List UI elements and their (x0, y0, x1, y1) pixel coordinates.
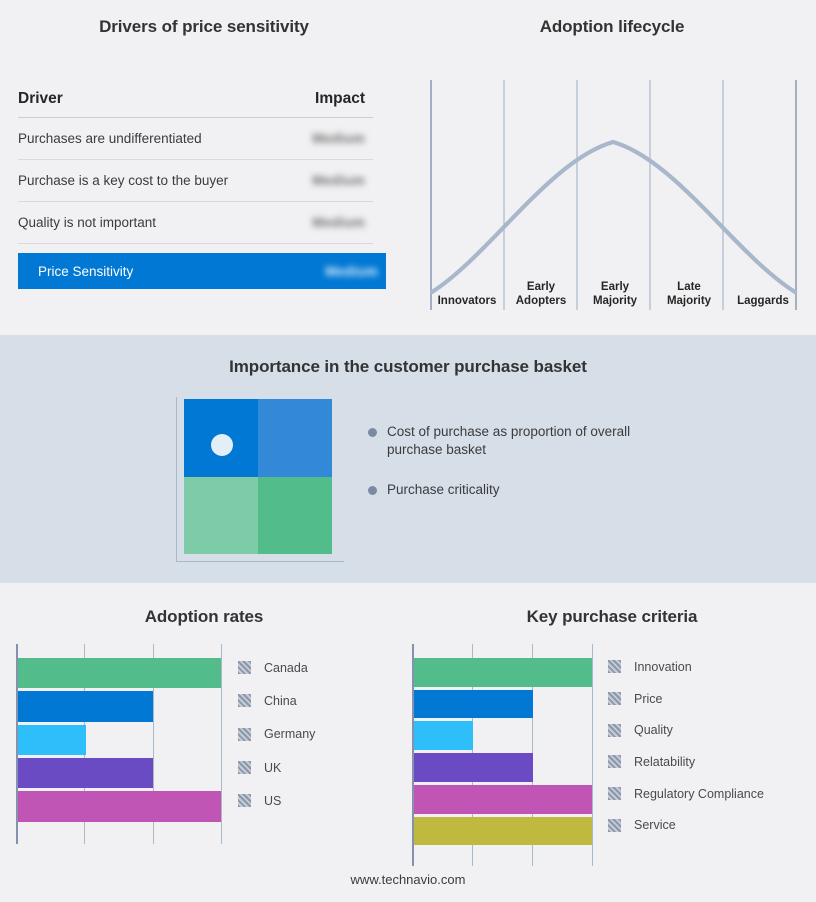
legend-item: China (238, 684, 315, 717)
summary-impact-redacted: Medium (325, 264, 378, 279)
legend-label: US (264, 794, 281, 808)
bar (414, 690, 533, 719)
legend-item: Quality (608, 714, 764, 746)
legend-item: Service (608, 810, 764, 842)
drivers-panel: Drivers of price sensitivity Driver Impa… (0, 0, 408, 335)
hatched-swatch-icon (608, 819, 621, 832)
impact-value-redacted: Medium (312, 173, 365, 188)
legend-item: US (238, 784, 315, 817)
driver-label: Quality is not important (18, 215, 156, 230)
gridline (592, 644, 593, 866)
adoption-rates-panel: Adoption rates CanadaChinaGermanyUKUS (0, 583, 408, 902)
impact-value-redacted: Medium (312, 131, 365, 146)
legend-label: Innovation (634, 660, 692, 674)
price-sensitivity-summary-row: Price Sensitivity Medium (18, 253, 386, 289)
table-row: Quality is not important Medium (18, 202, 373, 244)
legend-item: Innovation (608, 651, 764, 683)
bar-series (18, 658, 221, 825)
bar-row (18, 658, 221, 688)
matrix-y-axis (176, 397, 177, 562)
adoption-rates-chart (16, 644, 221, 844)
legend-label: Relatability (634, 755, 695, 769)
quadrant-bottom-left (184, 477, 258, 555)
hatched-swatch-icon (238, 694, 251, 707)
stage-label-innovators: Innovators (430, 294, 504, 310)
bullet-dot-icon (368, 428, 377, 437)
hatched-swatch-icon (608, 660, 621, 673)
hatched-swatch-icon (608, 724, 621, 737)
bullet-dot-icon (368, 486, 377, 495)
bar-row (18, 725, 221, 755)
bar (414, 817, 592, 846)
key-purchase-criteria-chart (412, 644, 592, 866)
column-header-driver: Driver (18, 90, 63, 108)
bar (18, 658, 221, 688)
bar (18, 758, 153, 788)
matrix-x-axis (176, 561, 344, 562)
criteria-title: Key purchase criteria (408, 607, 816, 627)
hatched-swatch-icon (238, 794, 251, 807)
bar (414, 721, 473, 750)
position-marker-dot (211, 434, 233, 456)
table-row: Purchase is a key cost to the buyer Medi… (18, 160, 373, 202)
legend-item: Canada (238, 651, 315, 684)
bar (18, 691, 153, 721)
footer-url: www.technavio.com (0, 872, 816, 887)
key-purchase-criteria-legend: InnovationPriceQualityRelatabilityRegula… (608, 651, 764, 841)
legend-item: UK (238, 751, 315, 784)
bar-row (414, 785, 592, 814)
lifecycle-title: Adoption lifecycle (408, 17, 816, 37)
legend-label: Price (634, 692, 662, 706)
hatched-swatch-icon (608, 755, 621, 768)
quadrant-matrix (176, 397, 344, 565)
table-header: Driver Impact (18, 90, 373, 118)
bar-series (414, 658, 592, 848)
driver-label: Purchase is a key cost to the buyer (18, 173, 228, 188)
driver-label: Purchases are undifferentiated (18, 131, 202, 146)
legend-item: Price (608, 683, 764, 715)
legend-label: Quality (634, 723, 673, 737)
lifecycle-stage-labels: Innovators EarlyAdopters EarlyMajority L… (430, 255, 800, 310)
legend-label: China (264, 694, 297, 708)
legend-label: Purchase criticality (387, 481, 500, 499)
stage-label-laggards: Laggards (726, 294, 800, 310)
impact-value-redacted: Medium (312, 215, 365, 230)
hatched-swatch-icon (238, 761, 251, 774)
legend-label: Cost of purchase as proportion of overal… (387, 423, 642, 459)
key-purchase-criteria-panel: Key purchase criteria InnovationPriceQua… (408, 583, 816, 902)
adoption-rates-title: Adoption rates (0, 607, 408, 627)
column-header-impact: Impact (315, 90, 365, 108)
matrix-cells (184, 399, 332, 554)
gridline (221, 644, 222, 844)
stage-label-early-adopters: EarlyAdopters (504, 280, 578, 310)
legend-item: Germany (238, 718, 315, 751)
legend-label: Germany (264, 727, 315, 741)
hatched-swatch-icon (608, 787, 621, 800)
bar-row (18, 691, 221, 721)
bar (414, 785, 592, 814)
bar-row (18, 758, 221, 788)
purchase-basket-panel: Importance in the customer purchase bask… (0, 335, 816, 583)
table-row: Purchases are undifferentiated Medium (18, 118, 373, 160)
bar (18, 725, 86, 755)
legend-item: Relatability (608, 746, 764, 778)
legend-item: Purchase criticality (368, 481, 668, 499)
bar-row (414, 817, 592, 846)
bar-row (18, 791, 221, 821)
stage-label-late-majority: LateMajority (652, 280, 726, 310)
hatched-swatch-icon (238, 728, 251, 741)
hatched-swatch-icon (238, 661, 251, 674)
quadrant-top-right (258, 399, 332, 477)
bar (18, 791, 221, 821)
drivers-table: Driver Impact Purchases are undifferenti… (18, 90, 373, 289)
bar-row (414, 690, 592, 719)
summary-label: Price Sensitivity (38, 264, 133, 279)
bar-row (414, 753, 592, 782)
bar-row (414, 658, 592, 687)
legend-label: Regulatory Compliance (634, 787, 764, 801)
hatched-swatch-icon (608, 692, 621, 705)
legend-item: Cost of purchase as proportion of overal… (368, 423, 668, 459)
quadrant-bottom-right (258, 477, 332, 555)
bar (414, 753, 533, 782)
basket-legend: Cost of purchase as proportion of overal… (368, 423, 668, 521)
bar (414, 658, 592, 687)
adoption-rates-legend: CanadaChinaGermanyUKUS (238, 651, 315, 818)
legend-label: Canada (264, 661, 308, 675)
basket-title: Importance in the customer purchase bask… (0, 357, 816, 377)
legend-item: Regulatory Compliance (608, 778, 764, 810)
drivers-title: Drivers of price sensitivity (0, 17, 408, 37)
stage-label-early-majority: EarlyMajority (578, 280, 652, 310)
lifecycle-panel: Adoption lifecycle Innovators EarlyAdopt… (408, 0, 816, 335)
bar-row (414, 721, 592, 750)
legend-label: UK (264, 761, 281, 775)
legend-label: Service (634, 818, 676, 832)
